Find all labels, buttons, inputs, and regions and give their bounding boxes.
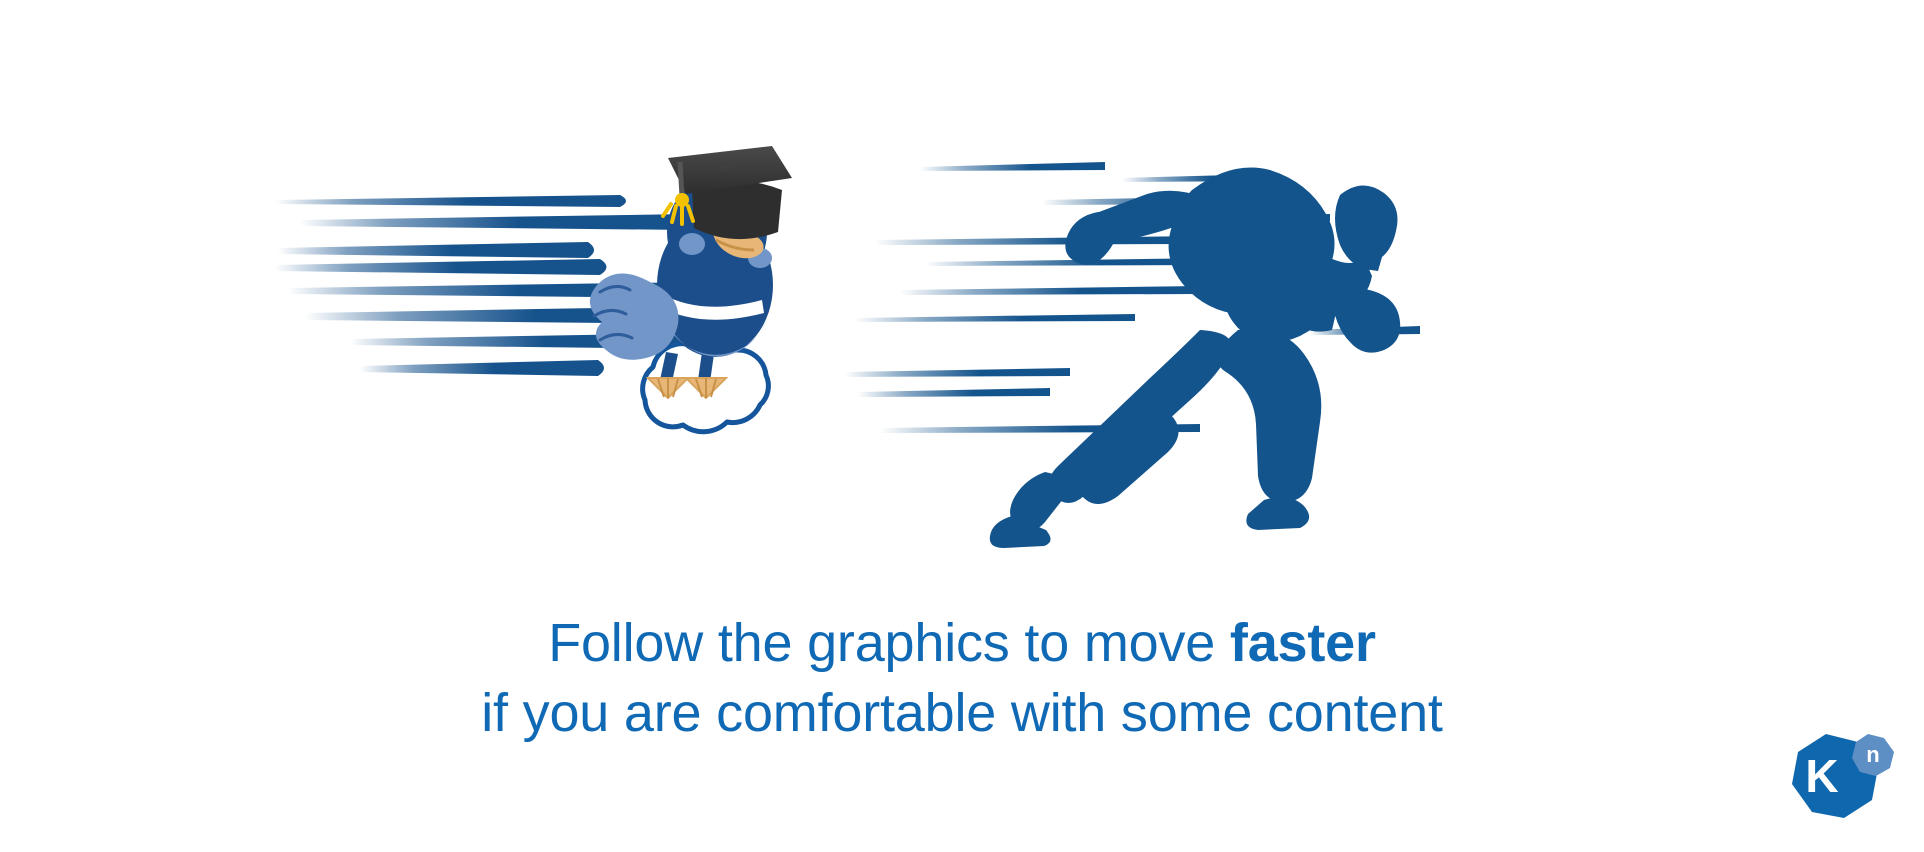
runner-silhouette xyxy=(990,168,1400,549)
logo-letter-n: n xyxy=(1866,742,1879,767)
brand-logo[interactable]: K n xyxy=(1782,728,1900,836)
caption-line-2: if you are comfortable with some content xyxy=(0,682,1924,746)
logo-letter-k: K xyxy=(1805,750,1838,802)
caption-block: Follow the graphics to move faster if yo… xyxy=(0,612,1924,745)
slide-canvas: Follow the graphics to move faster if yo… xyxy=(0,0,1924,852)
caption-line-1: Follow the graphics to move faster xyxy=(0,612,1924,676)
illustration-graphic xyxy=(0,0,1924,560)
graduation-cap-icon xyxy=(663,146,792,239)
bird-cheek-left xyxy=(679,233,705,255)
caption-line-1-prefix: Follow the graphics to move xyxy=(548,613,1230,673)
caption-emphasis-faster: faster xyxy=(1230,613,1376,673)
